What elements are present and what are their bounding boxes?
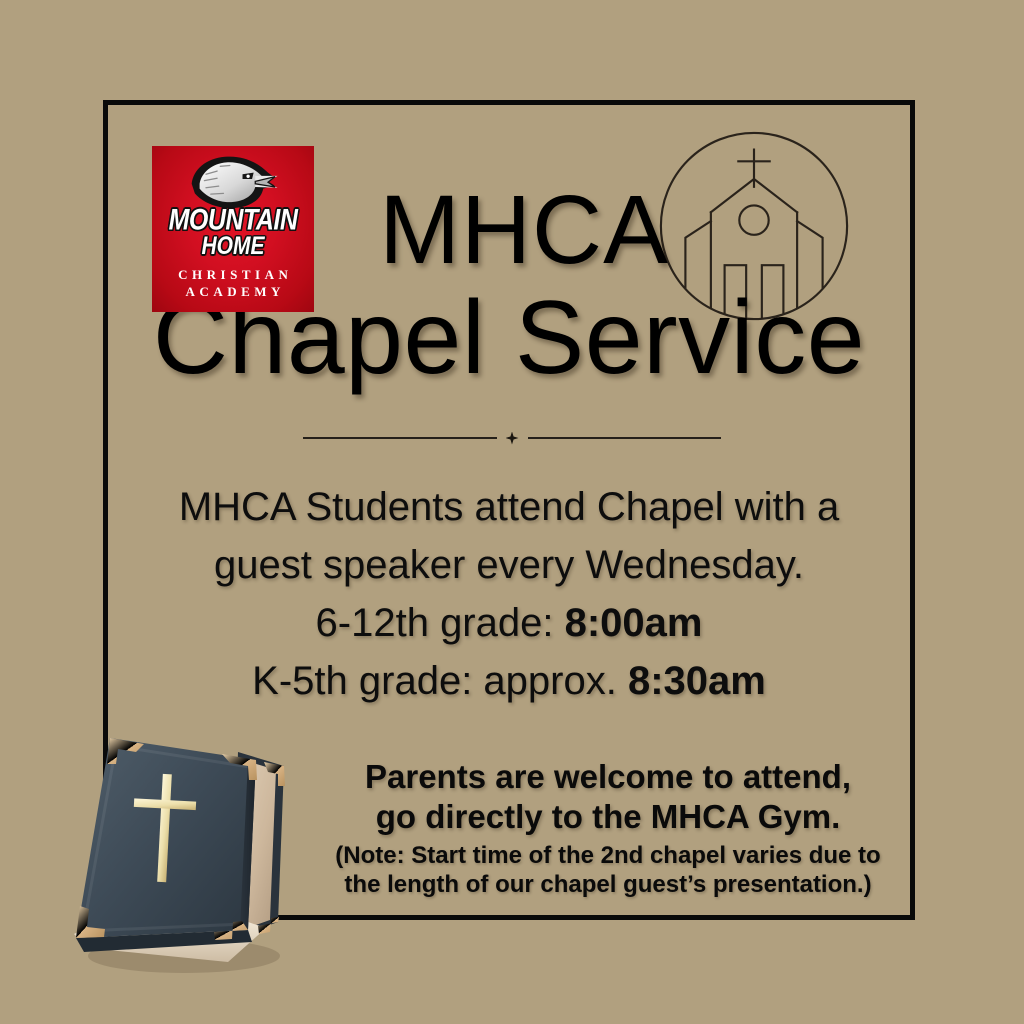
chapel-service-poster: MOUNTAIN HOME CHRISTIAN ACADEMY MHCA Cha… (0, 0, 1024, 1024)
mhca-school-logo: MOUNTAIN HOME CHRISTIAN ACADEMY (152, 146, 314, 312)
logo-banner-mountain: MOUNTAIN (152, 206, 314, 236)
body-line-2: guest speaker every Wednesday. (120, 536, 898, 594)
body-copy: MHCA Students attend Chapel with a guest… (120, 478, 898, 710)
divider-rule-left (303, 437, 497, 439)
logo-subtitle: CHRISTIAN ACADEMY (152, 266, 314, 300)
logo-subtitle-academy: ACADEMY (152, 283, 314, 300)
note-strong-line-2: go directly to the MHCA Gym. (312, 797, 904, 837)
diamond-ornament-icon (506, 432, 519, 445)
body-line-1: MHCA Students attend Chapel with a (120, 478, 898, 536)
church-circle-icon (656, 128, 852, 324)
elementary-grade-time: 8:30am (628, 659, 766, 703)
body-line-secondary-time: 6-12th grade: 8:00am (120, 594, 898, 652)
logo-banner-home: HOME (152, 233, 314, 260)
logo-banner: MOUNTAIN HOME (152, 208, 314, 258)
secondary-grade-time: 8:00am (565, 601, 703, 645)
logo-subtitle-christian: CHRISTIAN (152, 266, 314, 283)
bible-book-illustration (52, 716, 320, 978)
note-small-line-2: the length of our chapel guest’s present… (312, 870, 904, 899)
note-strong-line-1: Parents are welcome to attend, (312, 757, 904, 797)
body-line-elementary-time: K-5th grade: approx. 8:30am (120, 652, 898, 710)
decorative-divider (303, 430, 721, 446)
divider-rule-right (528, 437, 722, 439)
parents-note-block: Parents are welcome to attend, go direct… (312, 757, 904, 899)
note-small-line-1: (Note: Start time of the 2nd chapel vari… (312, 841, 904, 870)
elementary-grade-label: K-5th grade: approx. (252, 659, 628, 703)
secondary-grade-label: 6-12th grade: (316, 601, 565, 645)
